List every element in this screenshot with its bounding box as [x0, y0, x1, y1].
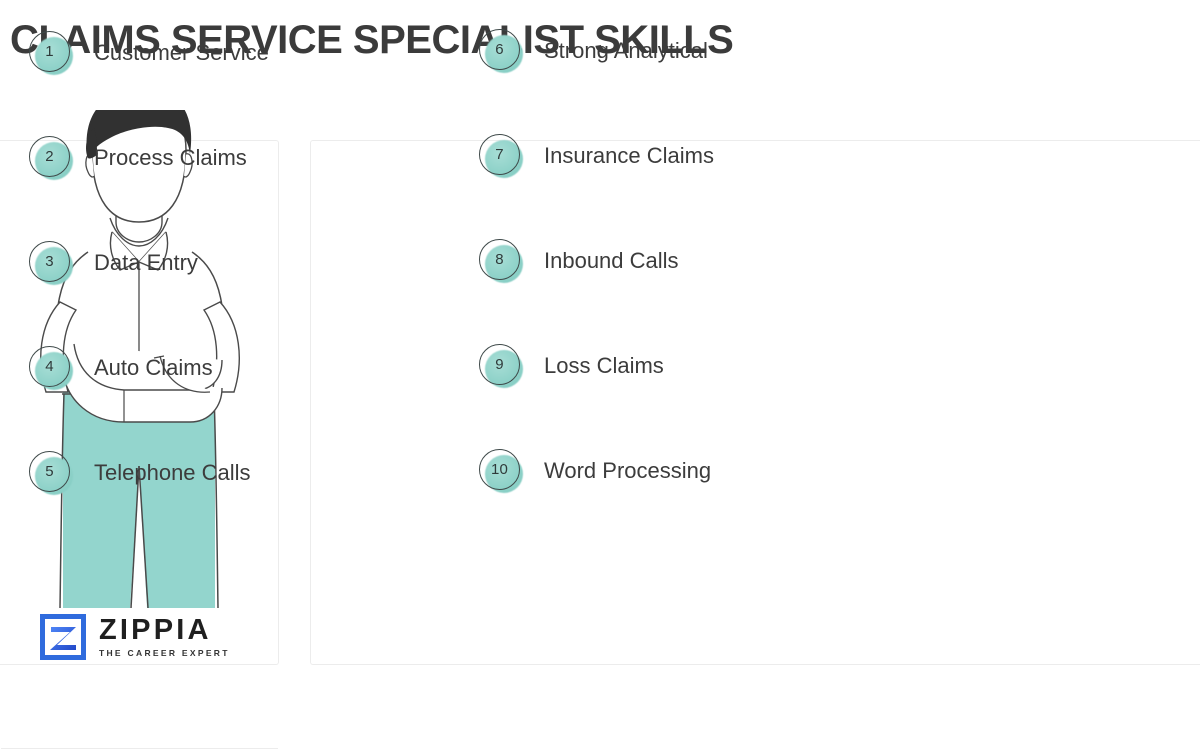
skill-label-8: Inbound Calls	[544, 247, 679, 275]
skill-label-2: Process Claims	[94, 144, 247, 172]
skill-number-badge-7: 7	[478, 133, 524, 179]
skill-item-10[interactable]: 10 Word Processing	[450, 448, 890, 497]
skill-number-badge-3: 3	[28, 240, 74, 286]
skill-item-9[interactable]: 9 Loss Claims	[450, 343, 890, 392]
skill-number-1: 1	[29, 31, 70, 72]
brand-tagline: THE CAREER EXPERT	[99, 647, 230, 659]
skill-number-7: 7	[479, 134, 520, 175]
zippia-logo[interactable]: ZIPPIA THE CAREER EXPERT	[40, 612, 250, 662]
skill-number-badge-2: 2	[28, 135, 74, 181]
skill-number-badge-10: 10	[478, 448, 524, 494]
skill-number-badge-9: 9	[478, 343, 524, 389]
skill-label-10: Word Processing	[544, 457, 711, 485]
skill-number-badge-5: 5	[28, 450, 74, 496]
skill-item-3[interactable]: 3 Data Entry	[0, 240, 450, 286]
skill-label-7: Insurance Claims	[544, 142, 714, 170]
skill-label-6: Strong Analytical	[544, 37, 708, 65]
zippia-z-logo-icon	[40, 614, 86, 660]
skill-number-6: 6	[479, 29, 520, 70]
skill-item-6[interactable]: 6 Strong Analytical	[450, 28, 890, 77]
skill-item-7[interactable]: 7 Insurance Claims	[450, 133, 890, 182]
skill-item-2[interactable]: 2 Process Claims	[0, 135, 450, 181]
skill-label-3: Data Entry	[94, 249, 198, 277]
skill-label-4: Auto Claims	[94, 354, 213, 382]
skill-number-badge-6: 6	[478, 28, 524, 74]
skill-number-10: 10	[479, 449, 520, 490]
skill-label-5: Telephone Calls	[94, 459, 251, 487]
skill-number-badge-4: 4	[28, 345, 74, 391]
brand-name: ZIPPIA	[99, 615, 230, 645]
skill-number-9: 9	[479, 344, 520, 385]
skills-list: 1 Customer Service 6 Strong Analytical 2…	[0, 0, 890, 525]
skill-number-badge-8: 8	[478, 238, 524, 284]
brand-text-block: ZIPPIA THE CAREER EXPERT	[99, 615, 230, 659]
skill-item-1[interactable]: 1 Customer Service	[0, 30, 450, 76]
infographic-page: CLAIMS SERVICE SPECIALIST SKILLS	[0, 0, 1200, 675]
skill-label-1: Customer Service	[94, 39, 269, 67]
skill-number-2: 2	[29, 136, 70, 177]
skill-item-8[interactable]: 8 Inbound Calls	[450, 238, 890, 287]
skill-item-5[interactable]: 5 Telephone Calls	[0, 450, 450, 496]
skill-number-5: 5	[29, 451, 70, 492]
skill-number-3: 3	[29, 241, 70, 282]
skill-number-8: 8	[479, 239, 520, 280]
skill-label-9: Loss Claims	[544, 352, 664, 380]
skill-item-4[interactable]: 4 Auto Claims	[0, 345, 450, 391]
skill-number-badge-1: 1	[28, 30, 74, 76]
skill-number-4: 4	[29, 346, 70, 387]
